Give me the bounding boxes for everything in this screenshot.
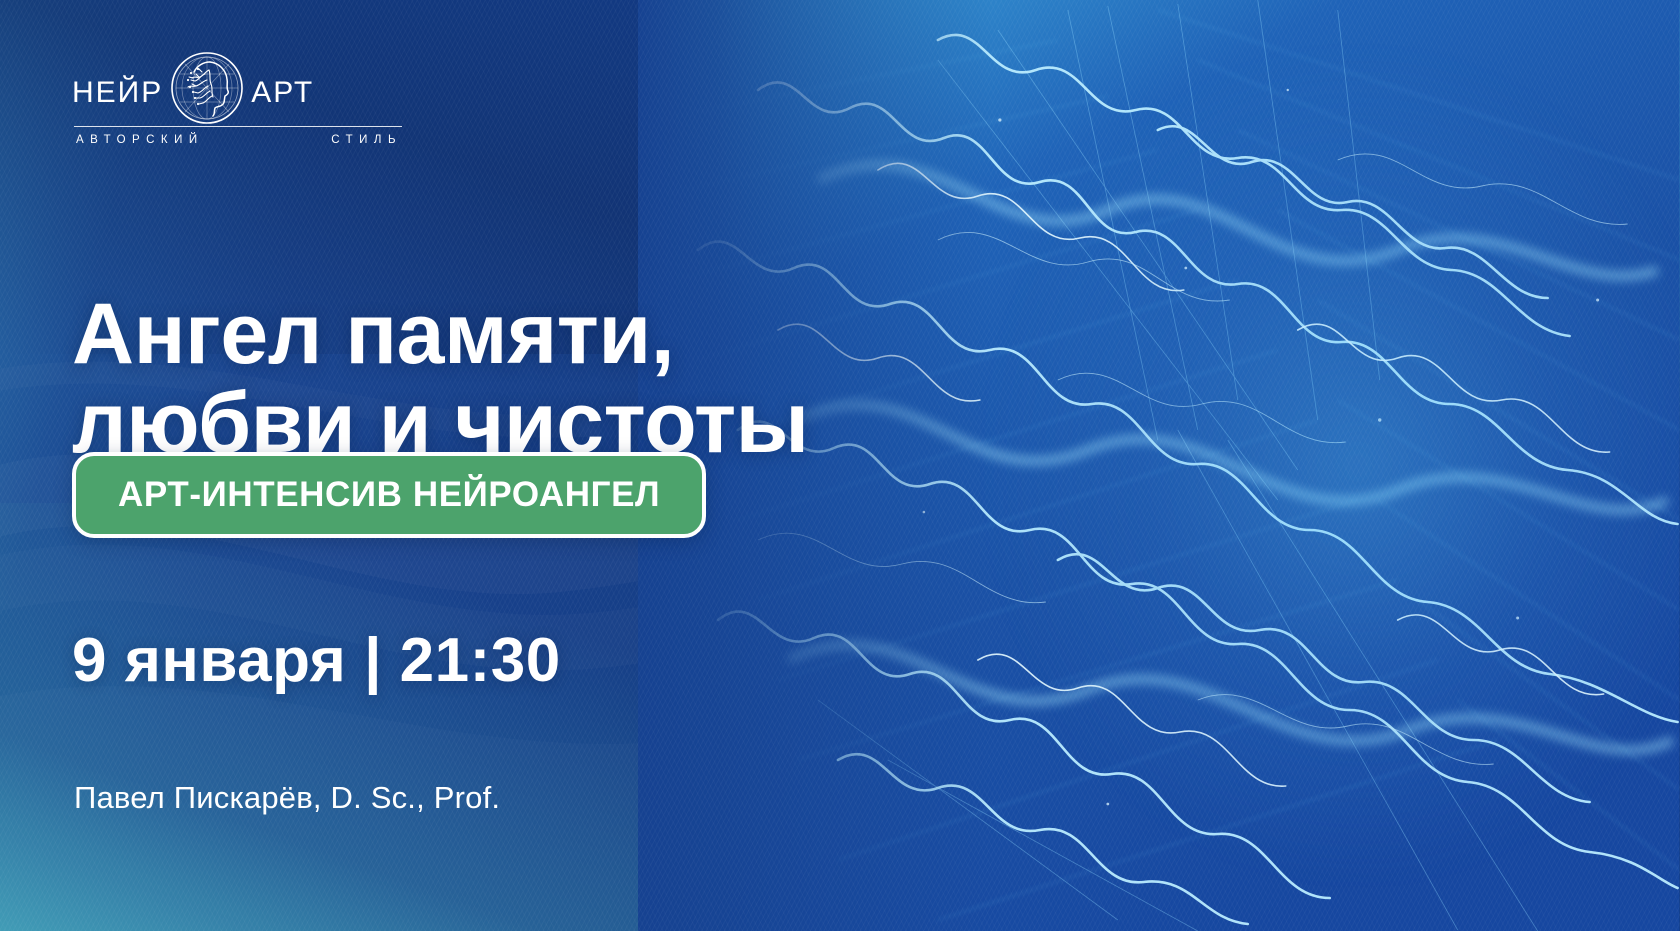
event-type-badge[interactable]: АРТ-ИНТЕНСИВ НЕЙРОАНГЕЛ <box>72 452 706 538</box>
headline-line-1: Ангел памяти, <box>72 290 809 379</box>
logo-word-left: Нейр <box>72 67 163 110</box>
promo-banner: Нейр <box>0 0 1680 931</box>
logo-tagline: АВТОРСКИЙ СТИЛЬ <box>76 134 402 146</box>
logo-divider <box>74 126 402 127</box>
logo-wordmark-row: Нейр <box>72 52 402 124</box>
event-type-badge-label: АРТ-ИНТЕНСИВ НЕЙРОАНГЕЛ <box>118 475 660 515</box>
banner-content: Нейр <box>0 0 1680 931</box>
logo-word-right: Арт <box>251 67 314 110</box>
logo-tagline-right: СТИЛЬ <box>331 134 402 146</box>
event-datetime: 9 января | 21:30 <box>72 625 561 696</box>
globe-head-profile-icon <box>169 50 245 126</box>
presenter-name: Павел Пискарёв, D. Sc., Prof. <box>74 780 500 816</box>
logo-tagline-left: АВТОРСКИЙ <box>76 134 204 146</box>
page-title: Ангел памяти, любви и чистоты <box>72 290 809 469</box>
brand-logo[interactable]: Нейр <box>72 52 402 157</box>
